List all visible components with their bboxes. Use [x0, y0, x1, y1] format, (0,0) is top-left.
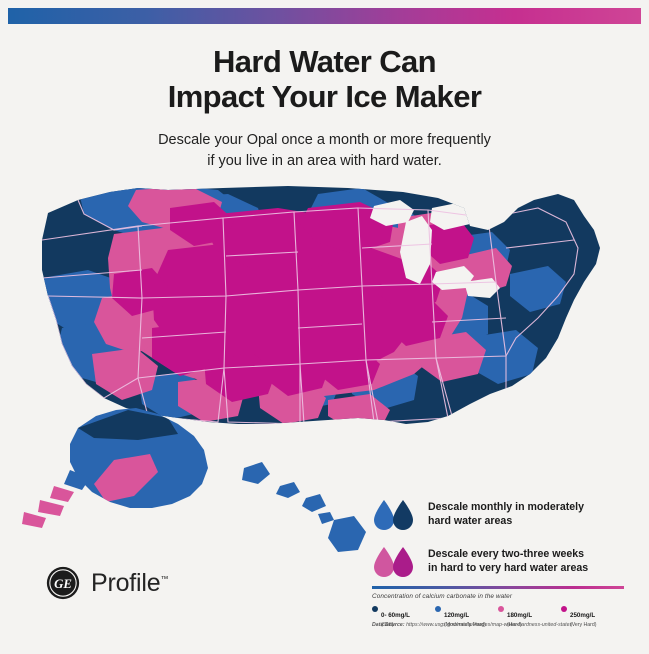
scale-gradient-bar — [372, 586, 624, 589]
brand-name: Profile™ — [91, 569, 168, 598]
alaska-island-2 — [50, 486, 74, 502]
water-drop-pair-blue-icon — [372, 498, 418, 534]
top-gradient-bar — [8, 8, 641, 24]
infographic-canvas: Hard Water Can Impact Your Ice Maker Des… — [0, 0, 649, 654]
data-source-url: https://www.usgs.gov/media/images/map-wa… — [406, 622, 572, 628]
subtitle-line-1: Descale your Opal once a month or more f… — [158, 132, 491, 148]
scale-value-very-hard: 250mg/L — [570, 612, 595, 619]
legend-moderate-line-2: hard water areas — [428, 515, 584, 529]
legend-hard-line-1: Descale every two-three weeks — [428, 548, 584, 560]
descale-legend: Descale monthly in moderately hard water… — [372, 498, 624, 592]
alaska-island-3 — [38, 500, 64, 516]
map-hawaii — [242, 462, 366, 552]
water-drop-pair-pink-icon — [372, 545, 418, 581]
scale-value-moderately-hard: 120mg/L — [444, 612, 469, 619]
legend-text-moderate: Descale monthly in moderately hard water… — [428, 498, 584, 528]
data-source-note: Data Source: https://www.usgs.gov/media/… — [372, 622, 642, 628]
ge-monogram-text: GE — [54, 577, 72, 591]
legend-text-hard: Descale every two-three weeks in hard to… — [428, 545, 588, 575]
scale-value-hard: 180mg/L — [507, 612, 532, 619]
scale-value-soft: 0- 60mg/L — [381, 612, 410, 619]
scale-dot-soft — [372, 606, 378, 612]
title-line-1: Hard Water Can — [213, 44, 436, 79]
scale-dot-very-hard — [561, 606, 567, 612]
scale-caption: Concentration of calcium carbonate in th… — [372, 593, 624, 600]
scale-dot-moderately-hard — [435, 606, 441, 612]
alaska-island-4 — [22, 512, 46, 528]
legend-moderate-line-1: Descale monthly in moderately — [428, 501, 584, 513]
scale-dot-hard — [498, 606, 504, 612]
title-line-2: Impact Your Ice Maker — [0, 79, 649, 114]
legend-hard-line-2: in hard to very hard water areas — [428, 562, 588, 576]
page-subtitle: Descale your Opal once a month or more f… — [0, 130, 649, 172]
ge-monogram-icon: GE — [46, 566, 80, 600]
legend-item-hard: Descale every two-three weeks in hard to… — [372, 545, 624, 581]
subtitle-line-2: if you live in an area with hard water. — [0, 151, 649, 172]
ge-profile-logo: GE Profile™ — [46, 566, 168, 600]
data-source-label: Data Source: — [372, 622, 405, 628]
brand-name-text: Profile — [91, 569, 160, 597]
trademark-symbol: ™ — [160, 574, 168, 583]
legend-item-moderate: Descale monthly in moderately hard water… — [372, 498, 624, 534]
page-title: Hard Water Can Impact Your Ice Maker — [0, 44, 649, 114]
